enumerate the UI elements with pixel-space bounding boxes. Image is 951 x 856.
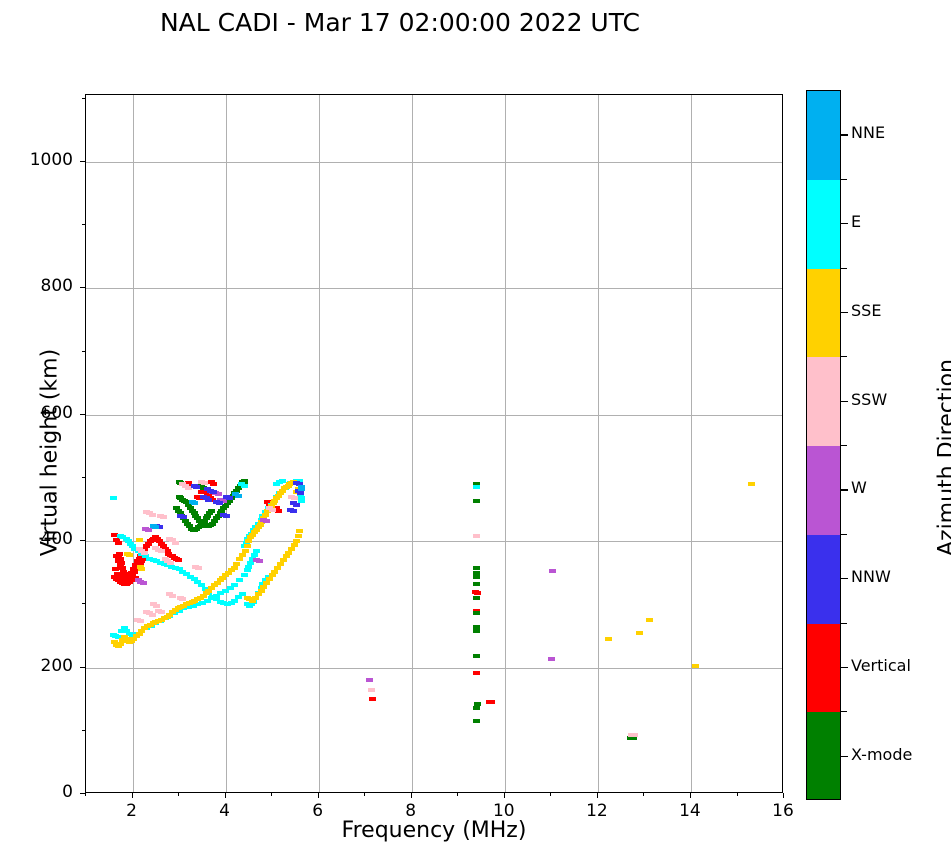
colorbar-tick: [841, 134, 848, 135]
y-tick-minor: [82, 477, 85, 478]
data-point: [473, 719, 480, 723]
data-point: [293, 503, 300, 507]
data-point: [252, 596, 259, 600]
data-point: [285, 551, 292, 555]
data-point: [283, 554, 290, 558]
colorbar-tick: [841, 401, 848, 402]
data-point: [242, 549, 249, 553]
data-point: [236, 578, 243, 582]
colorbar-tick: [841, 578, 848, 579]
x-tick: [783, 793, 784, 798]
data-point: [167, 561, 174, 565]
data-point: [263, 519, 270, 523]
data-point: [549, 569, 556, 573]
y-tick: [80, 793, 85, 794]
data-point: [473, 625, 480, 629]
data-point: [137, 619, 144, 623]
data-point: [231, 583, 238, 587]
data-point: [126, 553, 133, 557]
data-point: [548, 657, 555, 661]
colorbar-label: Azimuth Direction: [935, 308, 951, 608]
x-tick-minor: [643, 793, 644, 796]
data-point: [369, 697, 376, 701]
data-point: [473, 582, 480, 586]
data-point: [274, 566, 281, 570]
data-point: [210, 490, 217, 494]
data-point: [208, 509, 215, 513]
colorbar-separator-tick: [841, 623, 847, 624]
colorbar-tick: [841, 312, 848, 313]
colorbar-separator-tick: [841, 445, 847, 446]
data-point: [115, 541, 122, 545]
y-tick-minor: [82, 730, 85, 731]
data-point: [473, 566, 480, 570]
data-point: [271, 570, 278, 574]
data-point: [140, 581, 147, 585]
data-point: [473, 611, 480, 615]
y-tick: [80, 414, 85, 415]
data-point: [245, 539, 252, 543]
data-point: [366, 678, 373, 682]
data-point: [636, 631, 643, 635]
data-point: [201, 481, 208, 485]
data-point: [244, 568, 251, 572]
data-point: [245, 565, 252, 569]
data-point: [231, 599, 238, 603]
data-point: [235, 494, 242, 498]
data-point: [280, 558, 287, 562]
data-point: [255, 592, 262, 596]
colorbar-tick-label: W: [851, 478, 867, 497]
data-point: [474, 591, 481, 595]
colorbar-segment-x-mode[interactable]: [807, 712, 840, 800]
x-tick: [318, 793, 319, 798]
colorbar-segment-vertical[interactable]: [807, 624, 840, 713]
data-point: [488, 700, 495, 704]
data-point: [253, 549, 260, 553]
data-point: [160, 515, 167, 519]
page-title: NAL CADI - Mar 17 02:00:00 2022 UTC: [0, 8, 800, 37]
x-tick-minor: [457, 793, 458, 796]
data-point: [179, 597, 186, 601]
data-point: [241, 484, 248, 488]
y-tick: [80, 540, 85, 541]
x-tick-minor: [364, 793, 365, 796]
data-point: [473, 499, 480, 503]
colorbar-tick-label: SSE: [851, 301, 881, 320]
colorbar-segment-w[interactable]: [807, 446, 840, 535]
data-point: [473, 629, 480, 633]
data-point: [223, 514, 230, 518]
data-point: [473, 706, 480, 710]
data-point: [195, 566, 202, 570]
ionogram-figure: NAL CADI - Mar 17 02:00:00 2022 UTC 2468…: [0, 0, 951, 856]
y-tick: [80, 161, 85, 162]
data-point: [288, 547, 295, 551]
x-tick: [225, 793, 226, 798]
y-tick-label: 200: [3, 656, 73, 676]
data-point: [158, 549, 165, 553]
data-point: [210, 482, 217, 486]
y-tick-minor: [82, 98, 85, 99]
data-point: [266, 577, 273, 581]
data-point: [138, 567, 145, 571]
colorbar-segment-e[interactable]: [807, 180, 840, 269]
x-tick-minor: [271, 793, 272, 796]
data-point: [298, 487, 305, 491]
data-point: [263, 581, 270, 585]
x-tick-minor: [737, 793, 738, 796]
data-point: [275, 509, 282, 513]
data-point: [141, 551, 148, 555]
x-tick: [504, 793, 505, 798]
data-point: [692, 664, 699, 668]
data-point: [169, 594, 176, 598]
x-tick: [132, 793, 133, 798]
colorbar-tick: [841, 667, 848, 668]
data-point: [136, 538, 143, 542]
colorbar-tick-label: Vertical: [851, 656, 911, 675]
x-tick: [597, 793, 598, 798]
x-tick: [690, 793, 691, 798]
y-tick-label: 1000: [3, 150, 73, 170]
colorbar-tick-label: SSW: [851, 390, 887, 409]
data-point: [191, 501, 198, 505]
x-tick-minor: [178, 793, 179, 796]
data-point: [291, 496, 298, 500]
data-point: [153, 604, 160, 608]
data-point: [193, 485, 200, 489]
data-point: [290, 509, 297, 513]
data-point: [145, 528, 152, 532]
y-tick: [80, 667, 85, 668]
data-point: [205, 498, 212, 502]
data-point: [473, 654, 480, 658]
data-point: [293, 539, 300, 543]
data-point: [473, 671, 480, 675]
data-point: [291, 543, 298, 547]
colorbar[interactable]: [806, 90, 841, 800]
data-point: [149, 513, 156, 517]
data-point: [631, 733, 638, 737]
plot-area[interactable]: [85, 94, 783, 793]
data-point: [152, 525, 159, 529]
data-point: [180, 515, 187, 519]
y-axis-label: Virtual height (km): [38, 278, 63, 628]
y-tick-minor: [82, 603, 85, 604]
y-tick-label: 0: [3, 782, 73, 802]
data-point: [277, 562, 284, 566]
colorbar-separator-tick: [841, 356, 847, 357]
colorbar-tick: [841, 489, 848, 490]
data-point: [256, 559, 263, 563]
data-point: [244, 544, 251, 548]
data-point: [110, 496, 117, 500]
data-point: [115, 556, 122, 560]
y-tick: [80, 287, 85, 288]
data-point: [473, 575, 480, 579]
colorbar-tick-label: X-mode: [851, 745, 912, 764]
data-point: [279, 479, 286, 483]
data-point: [241, 573, 248, 577]
data-point: [473, 534, 480, 538]
data-point: [646, 618, 653, 622]
data-point: [149, 613, 156, 617]
data-point: [269, 573, 276, 577]
colorbar-separator-tick: [841, 268, 847, 269]
data-point: [297, 491, 304, 495]
x-tick: [411, 793, 412, 798]
colorbar-separator-tick: [841, 534, 847, 535]
y-tick-minor: [82, 351, 85, 352]
colorbar-tick-label: E: [851, 212, 861, 231]
data-point: [473, 485, 480, 489]
data-point: [260, 585, 267, 589]
data-point: [748, 482, 755, 486]
data-point: [296, 529, 303, 533]
data-point: [473, 571, 480, 575]
data-point: [605, 637, 612, 641]
data-point: [258, 589, 265, 593]
colorbar-segment-sse[interactable]: [807, 269, 840, 358]
data-point: [119, 566, 126, 570]
data-point: [251, 553, 258, 557]
data-point: [226, 496, 233, 500]
colorbar-tick: [841, 223, 848, 224]
data-point: [158, 610, 165, 614]
x-tick-minor: [85, 793, 86, 796]
data-point: [474, 702, 481, 706]
data-point: [368, 688, 375, 692]
x-axis-label: Frequency (MHz): [85, 818, 783, 843]
colorbar-segment-nnw[interactable]: [807, 535, 840, 624]
data-point: [216, 501, 223, 505]
colorbar-separator-tick: [841, 179, 847, 180]
colorbar-separator-tick: [841, 711, 847, 712]
data-point: [473, 596, 480, 600]
colorbar-segment-ssw[interactable]: [807, 357, 840, 446]
data-point: [117, 642, 124, 646]
data-point: [172, 541, 179, 545]
data-point: [269, 508, 276, 512]
x-tick-minor: [550, 793, 551, 796]
y-tick-minor: [82, 224, 85, 225]
colorbar-tick-label: NNE: [851, 123, 885, 142]
data-point: [175, 558, 182, 562]
data-layer: [86, 95, 782, 792]
data-point: [239, 553, 246, 557]
data-point: [231, 566, 238, 570]
colorbar-segment-nne[interactable]: [807, 91, 840, 180]
data-point: [233, 562, 240, 566]
data-point: [262, 513, 269, 517]
colorbar-tick: [841, 756, 848, 757]
data-point: [236, 557, 243, 561]
colorbar-tick-label: NNW: [851, 567, 891, 586]
data-point: [295, 534, 302, 538]
